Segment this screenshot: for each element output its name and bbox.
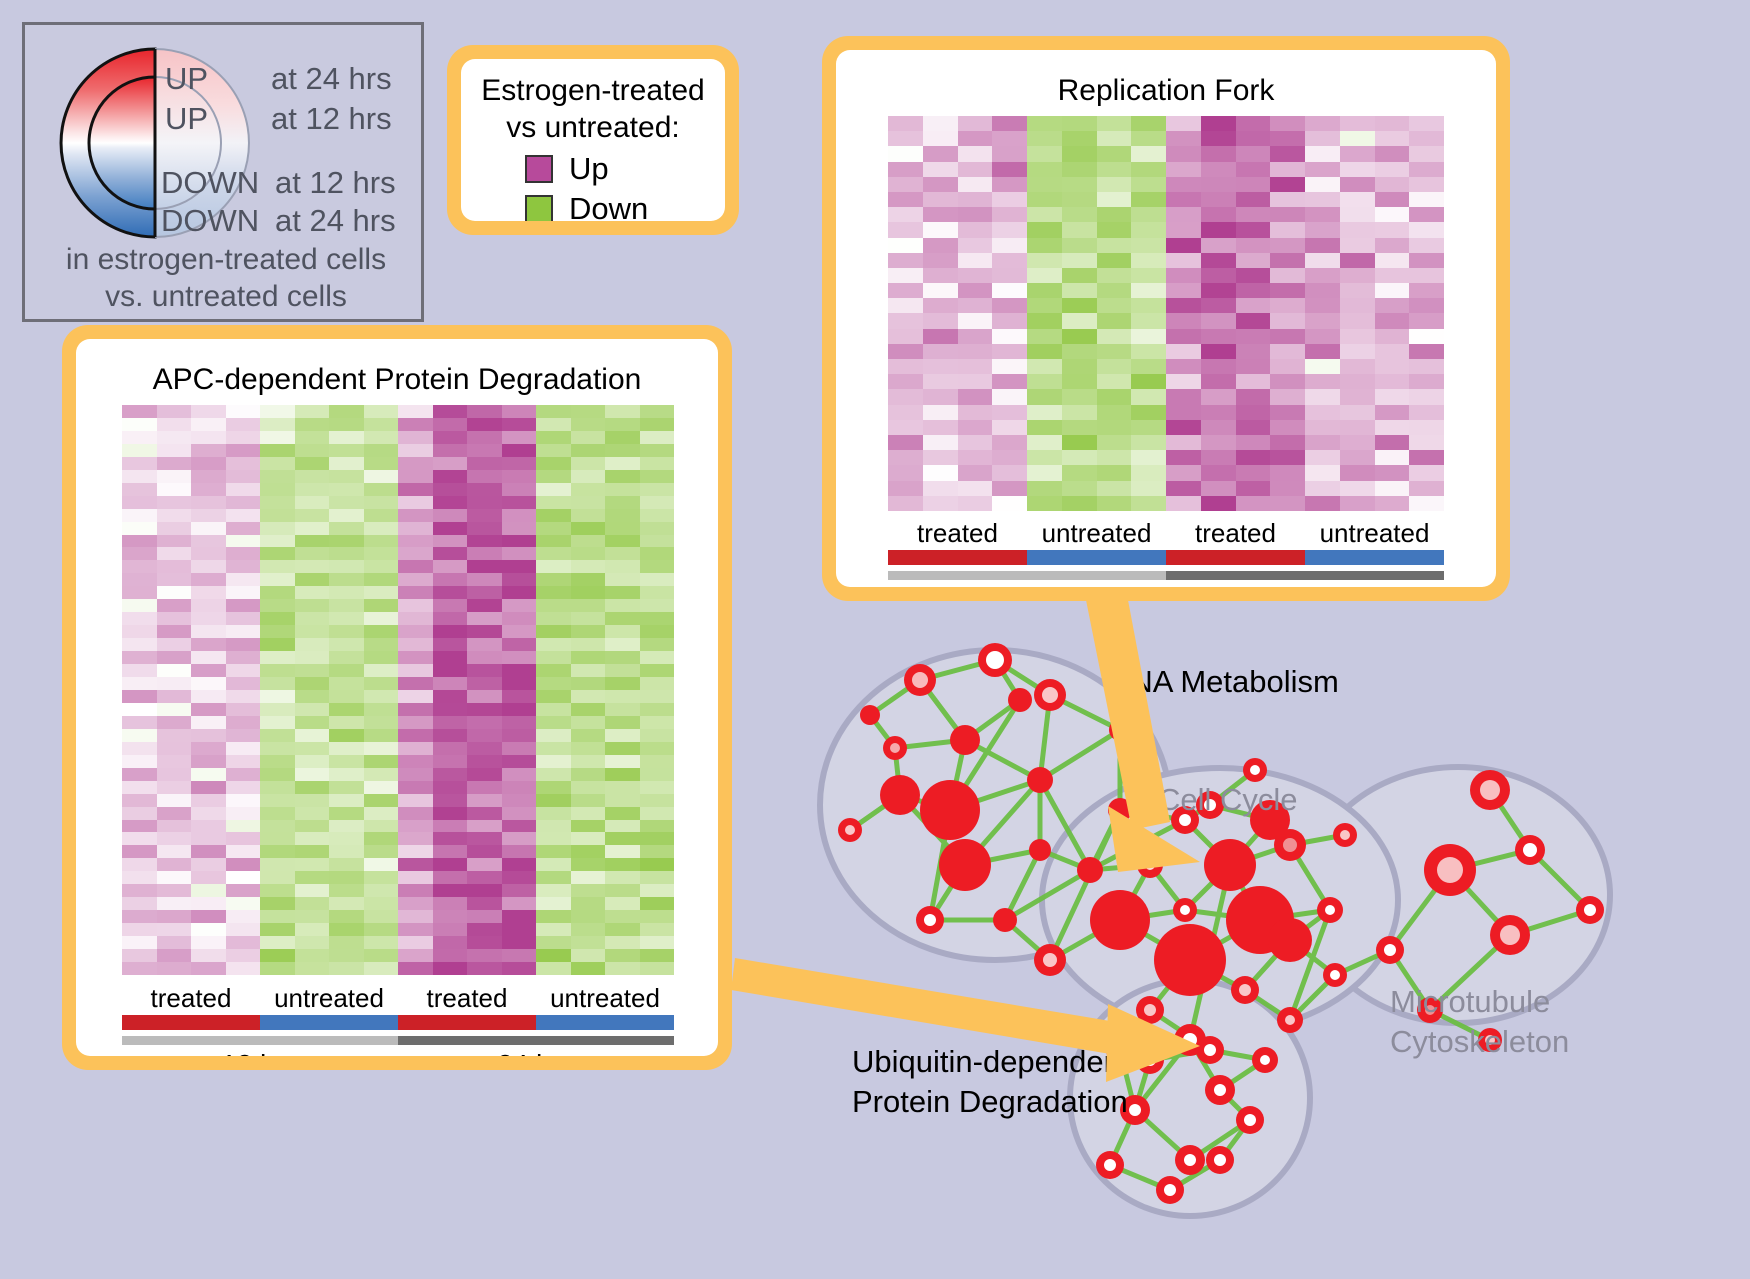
key-footer-line1: in estrogen-treated cells (25, 241, 427, 278)
key-word-down-24: DOWN (161, 203, 259, 239)
replication-fork-panel: Replication Fork treated untreated treat… (822, 36, 1510, 601)
rf-cond-label-1: untreated (1027, 518, 1166, 549)
apc-degradation-panel: APC-dependent Protein Degradation treate… (62, 325, 732, 1070)
rf-cond-bar-untreated-12 (1027, 550, 1166, 565)
legend-title-line2: vs untreated: (461, 110, 725, 147)
key-time-up-12: at 12 hrs (271, 101, 392, 137)
apc-cond-label-1: untreated (260, 983, 398, 1014)
apc-time-labels: 12 hrs 24 hrs (122, 1049, 674, 1056)
key-time-up-24: at 24 hrs (271, 61, 392, 97)
apc-time-label-12: 12 hrs (122, 1049, 398, 1056)
apc-cond-bar-untreated-12 (260, 1015, 398, 1030)
rf-time-bar-12 (888, 571, 1166, 580)
legend-label-up: Up (569, 151, 609, 187)
key-footer-line2: vs. untreated cells (25, 278, 427, 315)
replication-fork-condition-bar (888, 550, 1444, 565)
legend-item-up: Up (525, 151, 609, 187)
apc-cond-label-2: treated (398, 983, 536, 1014)
rf-time-label-24: 24 hrs (1166, 584, 1444, 587)
replication-fork-time-labels: 12 hrs 24 hrs (888, 584, 1444, 587)
apc-cond-label-0: treated (122, 983, 260, 1014)
apc-time-bar-24 (398, 1036, 674, 1045)
apc-time-bar-12 (122, 1036, 398, 1045)
rf-cond-bar-treated-12 (888, 550, 1027, 565)
rf-time-label-12: 12 hrs (888, 584, 1166, 587)
key-time-down-12: at 12 hrs (275, 165, 396, 201)
key-word-down-12: DOWN (161, 165, 259, 201)
apc-time-label-24: 24 hrs (398, 1049, 674, 1056)
cluster-label-dna-metabolism: DNA Metabolism (1108, 664, 1339, 699)
gene-network-diagram: DNA Metabolism Cell Cycle Microtubule Cy… (790, 620, 1750, 1279)
key-time-down-24: at 24 hrs (275, 203, 396, 239)
replication-fork-condition-labels: treated untreated treated untreated (888, 518, 1444, 549)
legend-label-down: Down (569, 191, 648, 221)
legend-title: Estrogen-treated vs untreated: (461, 73, 725, 146)
legend-panel-inner: Estrogen-treated vs untreated: Up Down (461, 59, 725, 221)
apc-condition-bar (122, 1015, 674, 1030)
rf-cond-label-0: treated (888, 518, 1027, 549)
legend-item-down: Down (525, 191, 648, 221)
replication-fork-title: Replication Fork (836, 74, 1496, 108)
apc-cond-bar-treated-12 (122, 1015, 260, 1030)
rf-cond-bar-untreated-24 (1305, 550, 1444, 565)
updown-legend-panel: Estrogen-treated vs untreated: Up Down (447, 45, 739, 235)
rf-cond-bar-treated-24 (1166, 550, 1305, 565)
replication-fork-heatmap (888, 116, 1444, 511)
apc-time-bar (122, 1036, 674, 1045)
apc-degradation-title: APC-dependent Protein Degradation (76, 363, 718, 397)
colour-wheel-key-box: UP at 24 hrs UP at 12 hrs DOWN at 12 hrs… (22, 22, 424, 322)
rf-time-bar-24 (1166, 571, 1444, 580)
replication-fork-inner: Replication Fork treated untreated treat… (836, 50, 1496, 587)
legend-title-line1: Estrogen-treated (461, 73, 725, 110)
legend-swatch-up-icon (525, 155, 553, 183)
replication-fork-time-bar (888, 571, 1444, 580)
figure-canvas: UP at 24 hrs UP at 12 hrs DOWN at 12 hrs… (0, 0, 1750, 1279)
apc-degradation-heatmap (122, 405, 674, 975)
rf-cond-label-2: treated (1166, 518, 1305, 549)
apc-cond-bar-treated-24 (398, 1015, 536, 1030)
apc-cond-bar-untreated-24 (536, 1015, 674, 1030)
cluster-label-cell-cycle: Cell Cycle (1158, 782, 1298, 817)
legend-swatch-down-icon (525, 195, 553, 221)
key-footer: in estrogen-treated cells vs. untreated … (25, 241, 427, 315)
key-word-up-24: UP (165, 61, 208, 97)
apc-degradation-inner: APC-dependent Protein Degradation treate… (76, 339, 718, 1056)
key-word-up-12: UP (165, 101, 208, 137)
apc-condition-labels: treated untreated treated untreated (122, 983, 674, 1014)
apc-cond-label-3: untreated (536, 983, 674, 1014)
rf-cond-label-3: untreated (1305, 518, 1444, 549)
